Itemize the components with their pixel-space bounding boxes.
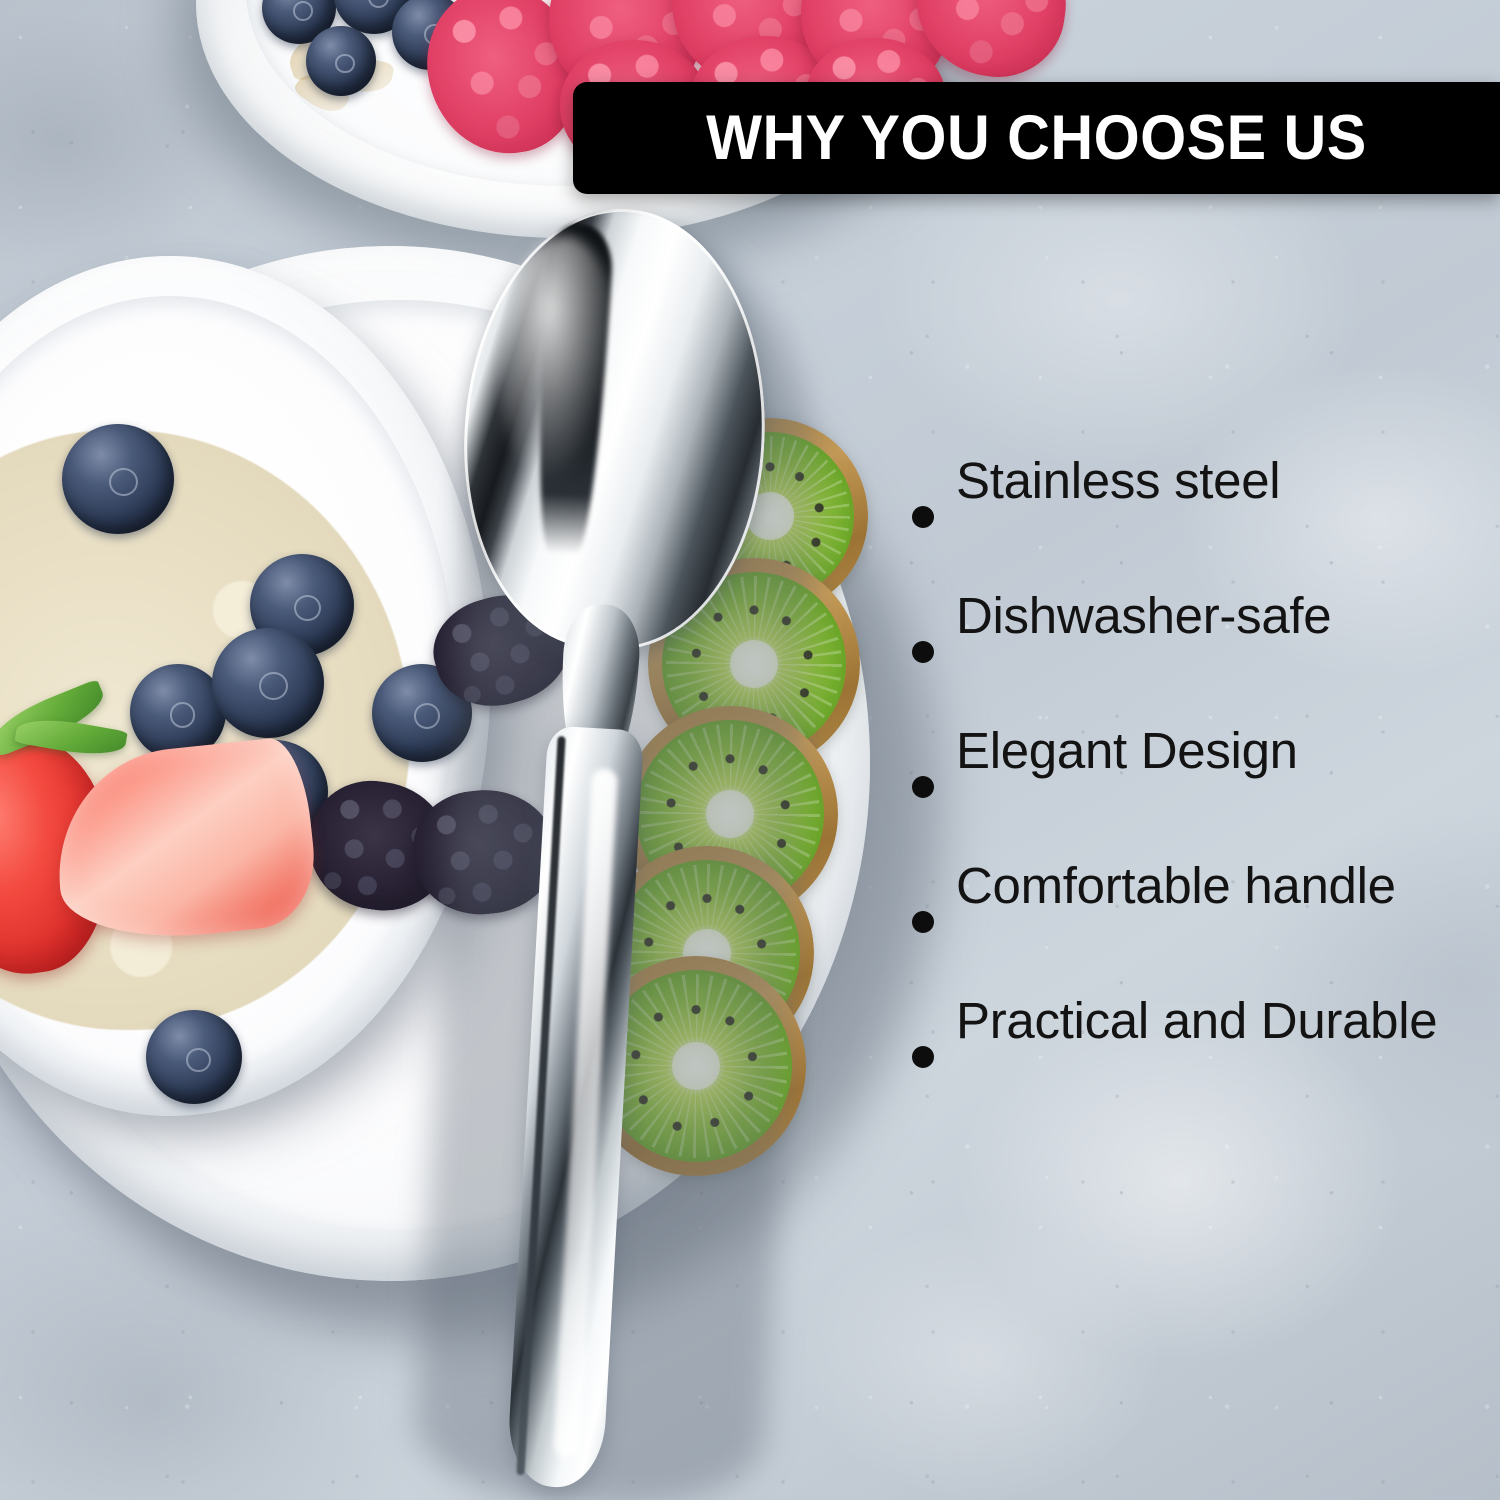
feature-item-practical-and-durable: Practical and Durable [912,995,1488,1130]
bullet-icon [912,641,934,663]
feature-item-elegant-design: Elegant Design [912,725,1488,860]
feature-item-stainless-steel: Stainless steel [912,455,1488,590]
feature-label: Comfortable handle [956,860,1396,911]
bullet-icon [912,1046,934,1068]
blueberry [62,424,174,534]
feature-item-dishwasher-safe: Dishwasher-safe [912,590,1488,725]
banner-title: WHY YOU CHOOSE US [706,107,1367,170]
stainless-steel-spoon [366,198,857,1500]
feature-label: Dishwasher-safe [956,590,1331,641]
feature-item-comfortable-handle: Comfortable handle [912,860,1488,995]
header-banner: WHY YOU CHOOSE US [573,82,1500,194]
blueberry [146,1010,242,1104]
bullet-icon [912,506,934,528]
bullet-icon [912,911,934,933]
feature-list: Stainless steel Dishwasher-safe Elegant … [912,455,1488,1130]
product-feature-card: WHY YOU CHOOSE US Stainless steel Dishwa… [0,0,1500,1500]
feature-label: Practical and Durable [956,995,1437,1046]
feature-label: Elegant Design [956,725,1298,776]
bullet-icon [912,776,934,798]
feature-label: Stainless steel [956,455,1280,506]
blueberry [212,628,324,738]
blueberry [306,26,376,96]
spoon-bowl [453,201,777,657]
